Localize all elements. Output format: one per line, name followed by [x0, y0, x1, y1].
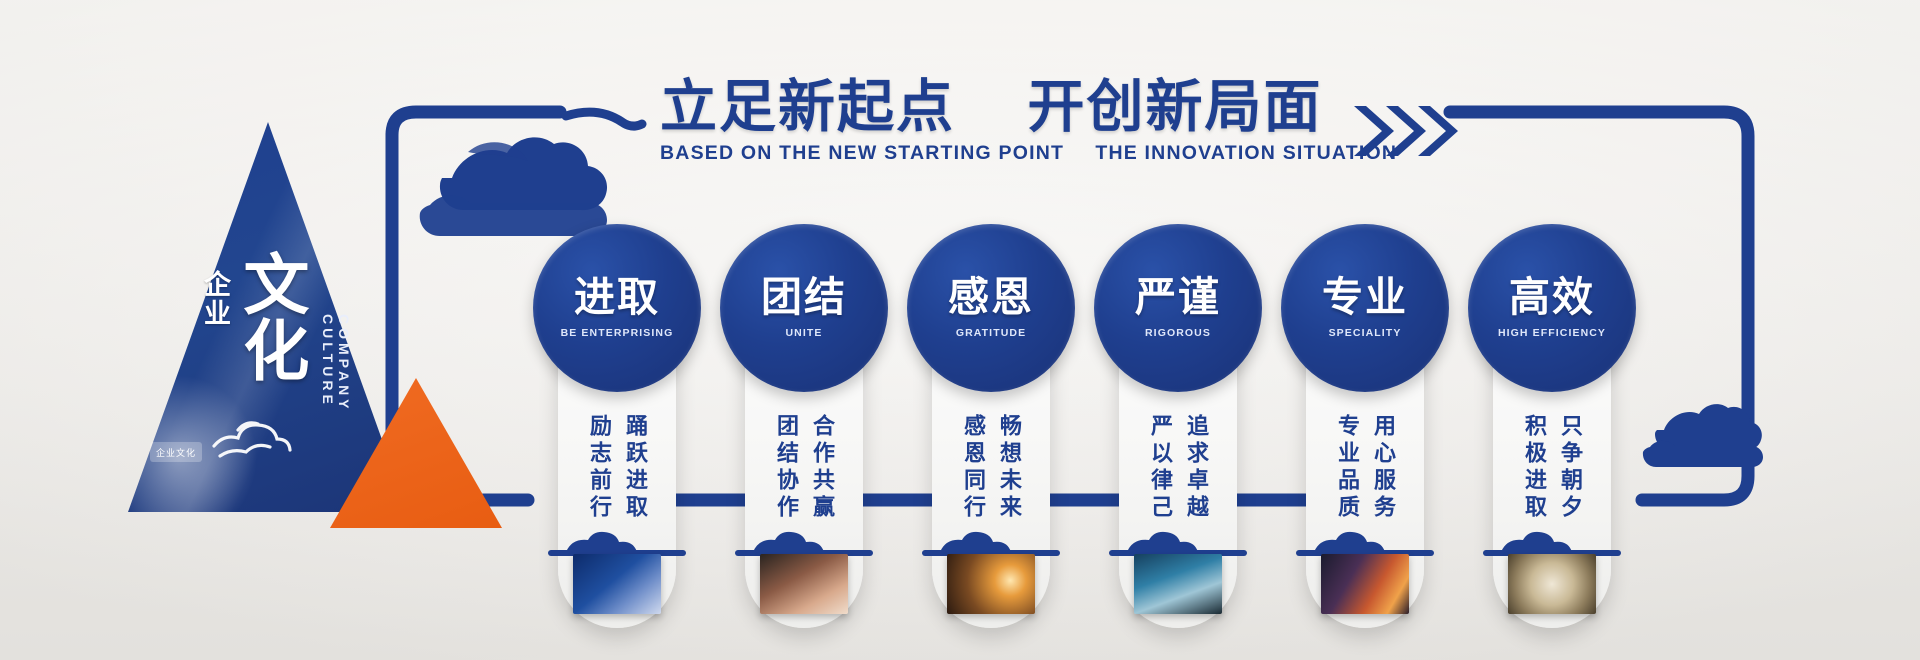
pill-2-photo — [760, 554, 848, 614]
pill-2-title: 团结 — [761, 277, 847, 318]
company-culture-logo: 企业 文化 COMPANY CULTURE 企业文化 — [128, 122, 408, 512]
photo-eagle — [1134, 554, 1222, 614]
pill-4-subtitle: RIGOROUS — [1145, 327, 1211, 339]
photo-rocket-blue — [573, 554, 661, 614]
headline-cn-left: 立足新起点 — [660, 76, 955, 139]
pill-1-slogan-left: 踊跃进取 — [619, 414, 651, 540]
pill-6-disc: 高效 HIGH EFFICIENCY — [1468, 224, 1636, 392]
pill-6-cloud-divider — [1471, 530, 1633, 556]
pill-card-5[interactable]: 专业 SPECIALITY 专业品质 用心服务 — [1306, 238, 1424, 628]
headline-english: BASED ON THE NEW STARTING POINT THE INNO… — [660, 142, 1760, 165]
pill-3-disc: 感恩 GRATITUDE — [907, 224, 1075, 392]
pill-6-slogan: 积极进取 只争朝夕 — [1493, 414, 1611, 540]
cloud-ornament-large — [420, 137, 607, 236]
logo-en-vertical: COMPANY CULTURE — [320, 314, 352, 512]
pill-3-slogan-right: 感恩同行 — [957, 414, 989, 540]
pill-1-subtitle: BE ENTERPRISING — [561, 327, 674, 339]
pill-2-slogan: 团结协作 合作共赢 — [745, 414, 863, 540]
logo-cn-small: 企业 — [196, 270, 235, 328]
headline-chinese: 立足新起点 开创新局面 — [660, 78, 1760, 138]
pill-3-cloud-divider — [910, 530, 1072, 556]
pill-5-slogan-right: 专业品质 — [1331, 414, 1363, 540]
pill-6-slogan-right: 积极进取 — [1518, 414, 1550, 540]
pill-4-photo — [1134, 554, 1222, 614]
pill-card-2[interactable]: 团结 UNITE 团结协作 合作共赢 — [745, 238, 863, 628]
pill-card-1[interactable]: 进取 BE ENTERPRISING 励志前行 踊跃进取 — [558, 238, 676, 628]
pill-2-subtitle: UNITE — [786, 327, 823, 339]
photo-stopwatch — [1508, 554, 1596, 614]
logo-cn-big: 文化 — [236, 250, 303, 382]
pill-4-slogan-left: 追求卓越 — [1180, 414, 1212, 540]
pill-card-3[interactable]: 感恩 GRATITUDE 感恩同行 畅想未来 — [932, 238, 1050, 628]
pill-card-6[interactable]: 高效 HIGH EFFICIENCY 积极进取 只争朝夕 — [1493, 238, 1611, 628]
pill-5-photo — [1321, 554, 1409, 614]
pill-2-cloud-divider — [723, 530, 885, 556]
pill-4-disc: 严谨 RIGOROUS — [1094, 224, 1262, 392]
pill-card-4[interactable]: 严谨 RIGOROUS 严以律己 追求卓越 — [1119, 238, 1237, 628]
pill-1-slogan-right: 励志前行 — [583, 414, 615, 540]
pill-6-photo — [1508, 554, 1596, 614]
pill-4-slogan: 严以律己 追求卓越 — [1119, 414, 1237, 540]
pill-3-title: 感恩 — [948, 277, 1034, 318]
pill-3-slogan-left: 畅想未来 — [993, 414, 1025, 540]
chevron-right-icon — [1352, 104, 1472, 158]
headline-en-left: BASED ON THE NEW STARTING POINT — [660, 142, 1064, 164]
photo-highway-night — [1321, 554, 1409, 614]
pill-1-photo — [573, 554, 661, 614]
pill-5-slogan-left: 用心服务 — [1367, 414, 1399, 540]
pill-3-photo — [947, 554, 1035, 614]
cloud-ornament-small — [1643, 404, 1763, 467]
logo-cloud-icon — [208, 402, 294, 462]
pill-3-subtitle: GRATITUDE — [956, 327, 1026, 339]
pill-5-disc: 专业 SPECIALITY — [1281, 224, 1449, 392]
pill-4-cloud-divider — [1097, 530, 1259, 556]
pill-6-slogan-left: 只争朝夕 — [1554, 414, 1586, 540]
pill-3-slogan: 感恩同行 畅想未来 — [932, 414, 1050, 540]
pill-6-subtitle: HIGH EFFICIENCY — [1498, 327, 1606, 339]
pill-2-disc: 团结 UNITE — [720, 224, 888, 392]
headline-cn-right: 开创新局面 — [1028, 76, 1323, 139]
pill-5-subtitle: SPECIALITY — [1329, 327, 1402, 339]
pill-5-slogan: 专业品质 用心服务 — [1306, 414, 1424, 540]
logo-badge: 企业文化 — [150, 442, 202, 462]
photo-sunset-jump — [947, 554, 1035, 614]
pill-1-slogan: 励志前行 踊跃进取 — [558, 414, 676, 540]
culture-wall-stage: 企业 文化 COMPANY CULTURE 企业文化 立足新起点 开创新局面 B… — [0, 0, 1920, 660]
headline-block: 立足新起点 开创新局面 BASED ON THE NEW STARTING PO… — [660, 78, 1760, 165]
pill-5-title: 专业 — [1322, 277, 1408, 318]
pill-1-disc: 进取 BE ENTERPRISING — [533, 224, 701, 392]
pill-2-slogan-right: 团结协作 — [770, 414, 802, 540]
pill-2-slogan-left: 合作共赢 — [806, 414, 838, 540]
pill-4-title: 严谨 — [1135, 277, 1221, 318]
pill-4-slogan-right: 严以律己 — [1144, 414, 1176, 540]
pill-1-title: 进取 — [574, 277, 660, 318]
pill-6-title: 高效 — [1509, 277, 1595, 318]
photo-handshake — [760, 554, 848, 614]
pill-5-cloud-divider — [1284, 530, 1446, 556]
pill-1-cloud-divider — [536, 530, 698, 556]
